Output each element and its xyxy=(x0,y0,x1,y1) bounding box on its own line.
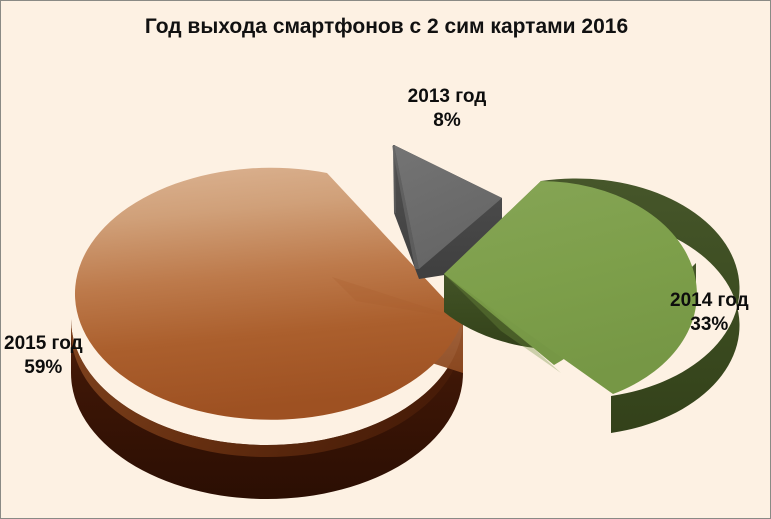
pie-chart-graphic xyxy=(1,1,771,519)
slice-label-2014-percent: 33% xyxy=(670,313,749,337)
slice-label-2013-percent: 8% xyxy=(408,109,487,133)
slice-label-2013: 2013 год 8% xyxy=(408,85,487,134)
pie-chart-container: Год выхода смартфонов с 2 сим картами 20… xyxy=(0,0,771,519)
slice-label-2015: 2015 год 59% xyxy=(4,332,83,381)
slice-label-2015-percent: 59% xyxy=(4,356,83,380)
slice-label-2014-name: 2014 год xyxy=(670,289,749,313)
slice-label-2014: 2014 год 33% xyxy=(670,289,749,338)
slice-label-2015-name: 2015 год xyxy=(4,332,83,356)
slice-label-2013-name: 2013 год xyxy=(408,85,487,109)
